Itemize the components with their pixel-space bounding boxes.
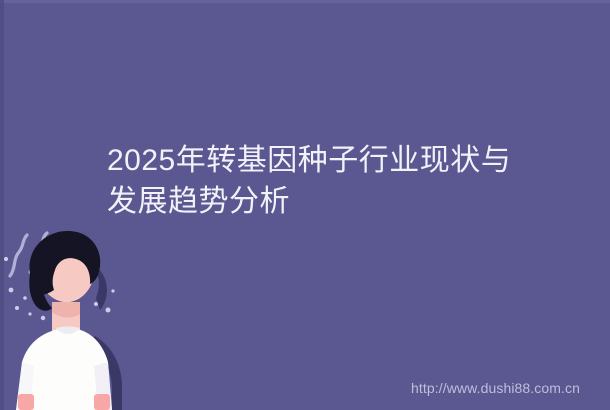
watermark-url: http://www.dushi88.com.cn [411, 380, 580, 397]
top-edge-band [0, 0, 610, 3]
poster-canvas: 2025年转基因种子行业现状与发展趋势分析 http://www.dushi88… [0, 0, 610, 410]
page-title: 2025年转基因种子行业现状与发展趋势分析 [107, 140, 537, 222]
person-illustration [0, 228, 170, 410]
